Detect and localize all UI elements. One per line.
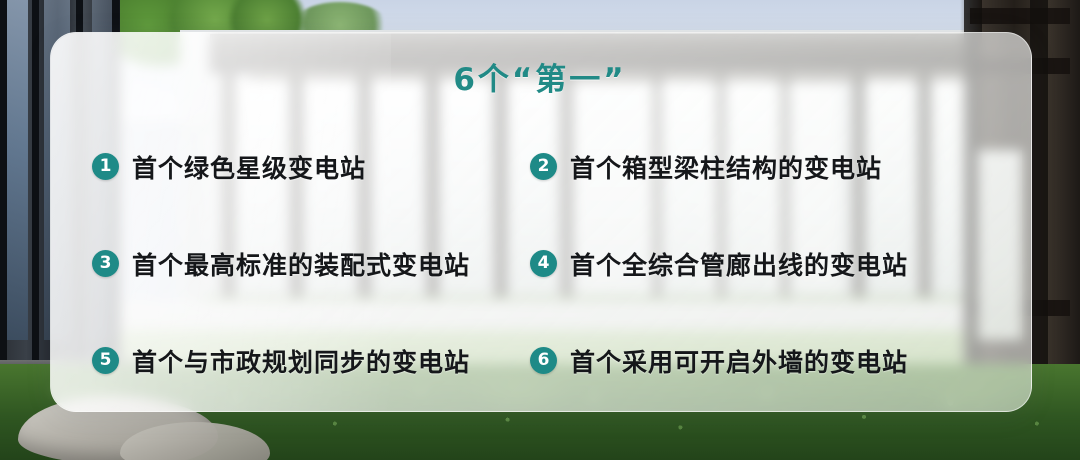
list-item-label: 首个与市政规划同步的变电站 <box>132 343 470 379</box>
list-item-label: 首个全综合管廊出线的变电站 <box>570 246 908 282</box>
poster-stage: 6个“第一” 1 首个绿色星级变电站 2 首个箱型梁柱结构的变电站 3 首个最高… <box>0 0 1080 460</box>
list-item[interactable]: 2 首个箱型梁柱结构的变电站 <box>520 149 1030 185</box>
card-content: 6个“第一” 1 首个绿色星级变电站 2 首个箱型梁柱结构的变电站 3 首个最高… <box>50 32 1030 410</box>
item-number-badge: 5 <box>92 347 119 374</box>
list-item-label: 首个绿色星级变电站 <box>132 149 366 185</box>
window-pane <box>6 0 28 340</box>
list-item[interactable]: 6 首个采用可开启外墙的变电站 <box>520 343 1030 379</box>
firsts-list: 1 首个绿色星级变电站 2 首个箱型梁柱结构的变电站 3 首个最高标准的装配式变… <box>50 118 1030 409</box>
list-item[interactable]: 1 首个绿色星级变电站 <box>50 149 520 185</box>
list-item[interactable]: 4 首个全综合管廊出线的变电站 <box>520 246 1030 282</box>
page-title: 6个“第一” <box>50 54 1030 99</box>
list-item-label: 首个最高标准的装配式变电站 <box>132 246 470 282</box>
list-item[interactable]: 3 首个最高标准的装配式变电站 <box>50 246 520 282</box>
item-number-badge: 4 <box>530 250 557 277</box>
list-item-label: 首个箱型梁柱结构的变电站 <box>570 149 882 185</box>
list-item[interactable]: 5 首个与市政规划同步的变电站 <box>50 343 520 379</box>
item-number-badge: 2 <box>530 153 557 180</box>
item-number-badge: 1 <box>92 153 119 180</box>
list-item-label: 首个采用可开启外墙的变电站 <box>570 343 908 379</box>
wooden-beam <box>970 8 1070 24</box>
item-number-badge: 3 <box>92 250 119 277</box>
item-number-badge: 6 <box>530 347 557 374</box>
